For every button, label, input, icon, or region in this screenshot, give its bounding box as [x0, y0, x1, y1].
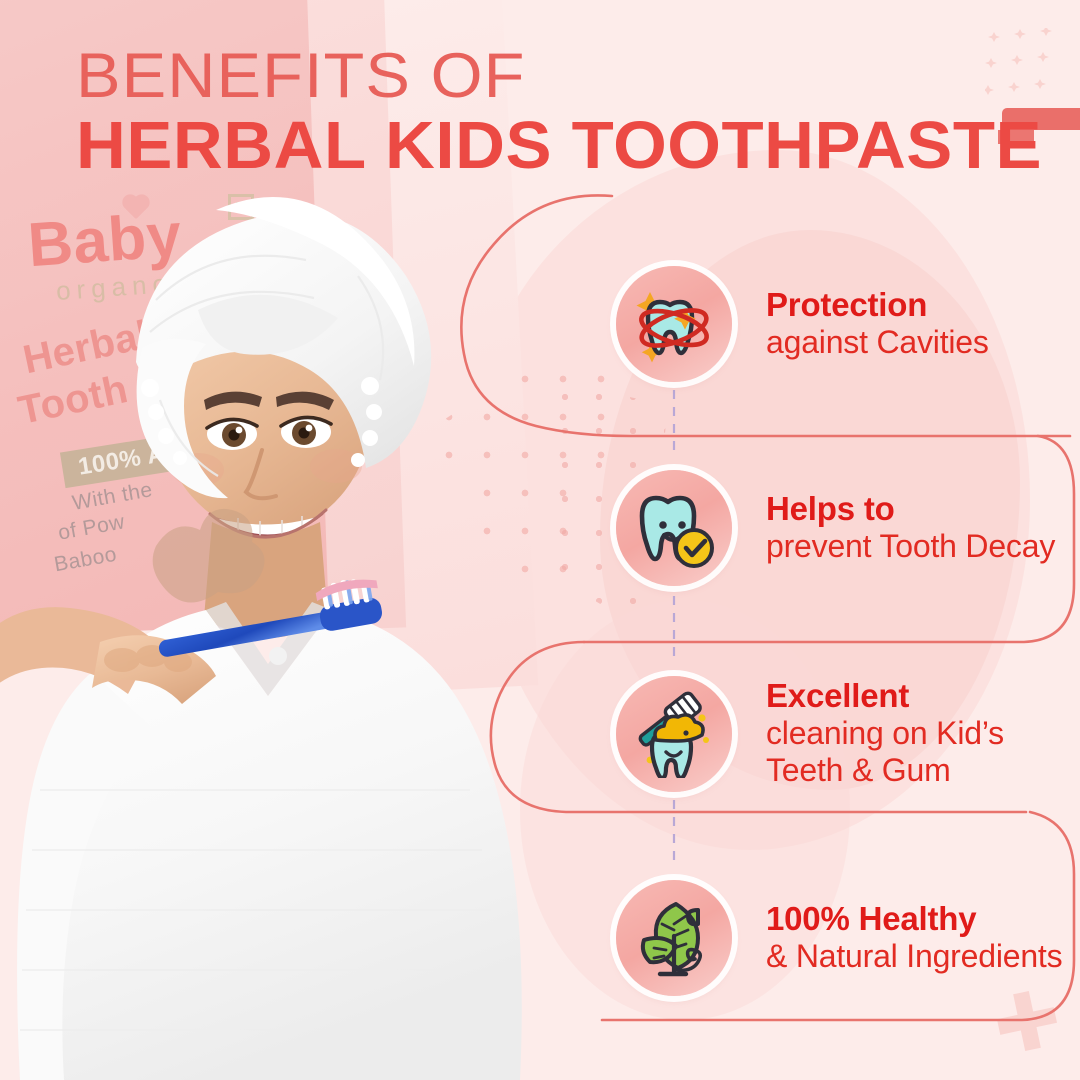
benefit-highlight: Protection	[766, 287, 989, 324]
benefit-rest: & Natural Ingredients	[766, 938, 1062, 975]
page-title: BENEFITS OF HERBAL KIDS TOOTHPASTE	[76, 46, 1014, 181]
title-line-2: HERBAL KIDS TOOTHPASTE	[76, 112, 1042, 180]
benefit-highlight: Helps to	[766, 491, 1055, 528]
benefit-row[interactable]: Excellent cleaning on Kid’s Teeth & Gum	[616, 676, 1076, 792]
benefit-row[interactable]: Protection against Cavities	[616, 266, 989, 382]
benefit-text: 100% Healthy & Natural Ingredients	[766, 901, 1062, 975]
benefit-row[interactable]: Helps to prevent Tooth Decay	[616, 470, 1055, 586]
benefit-text: Protection against Cavities	[766, 287, 989, 361]
benefit-highlight: Excellent	[766, 678, 1076, 715]
infographic-canvas: Baby organo Herbal Ki Tooth 100% A With …	[0, 0, 1080, 1080]
natural-leaf-icon	[616, 880, 732, 996]
tooth-check-icon	[616, 470, 732, 586]
toothbrush-cleaning-icon	[616, 676, 732, 792]
benefit-highlight: 100% Healthy	[766, 901, 1062, 938]
benefit-rest: against Cavities	[766, 324, 989, 361]
benefit-text: Helps to prevent Tooth Decay	[766, 491, 1055, 565]
benefit-text: Excellent cleaning on Kid’s Teeth & Gum	[766, 678, 1076, 789]
benefit-rest: cleaning on Kid’s Teeth & Gum	[766, 715, 1076, 789]
tooth-shield-cavity-icon	[616, 266, 732, 382]
benefit-row[interactable]: 100% Healthy & Natural Ingredients	[616, 880, 1062, 996]
title-line-1: BENEFITS OF	[76, 46, 1070, 106]
benefit-rest: prevent Tooth Decay	[766, 528, 1055, 565]
